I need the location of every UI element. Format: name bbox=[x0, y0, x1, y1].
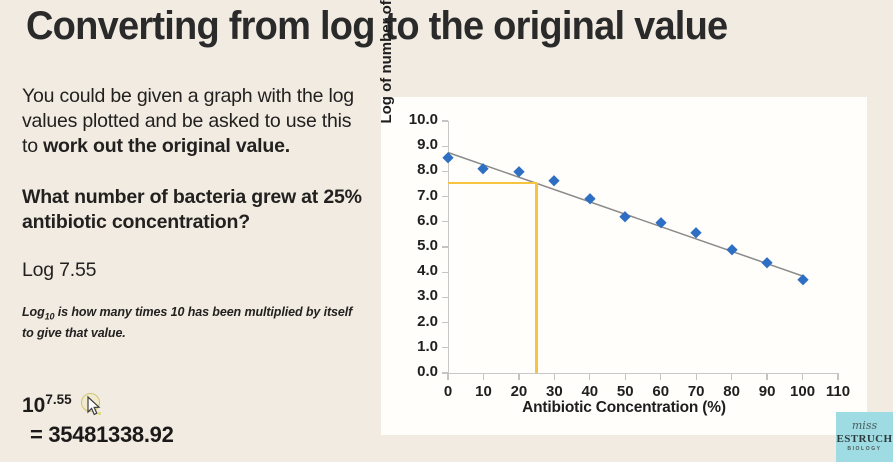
x-tick-label: 30 bbox=[534, 383, 574, 400]
x-tick bbox=[766, 374, 767, 380]
log-value-text: Log 7.55 bbox=[22, 259, 362, 282]
x-tick bbox=[731, 374, 732, 380]
x-tick bbox=[483, 374, 484, 380]
intro-paragraph: You could be given a graph with the log … bbox=[22, 84, 362, 159]
y-tick-label-text: 10.0 bbox=[409, 111, 438, 128]
question-text: What number of bacteria grew at 25% anti… bbox=[22, 185, 362, 235]
x-tick bbox=[554, 374, 555, 380]
page-title: Converting from log to the original valu… bbox=[26, 4, 727, 49]
x-tick bbox=[625, 374, 626, 380]
y-tick-label-text: 7.0 bbox=[417, 187, 438, 204]
y-tick-label-text: 5.0 bbox=[417, 237, 438, 254]
y-tick-label-text: 4.0 bbox=[417, 262, 438, 279]
x-tick-label: 0 bbox=[428, 383, 468, 400]
intro-paragraph-bold: work out the original value. bbox=[43, 135, 290, 157]
log-definition-note: Log10 is how many times 10 has been mult… bbox=[22, 304, 362, 341]
x-tick-label: 110 bbox=[818, 383, 858, 400]
y-tick-label-text: 8.0 bbox=[417, 161, 438, 178]
power-exponent: 7.55 bbox=[45, 392, 71, 407]
y-axis-title: Log of number of bacteria bbox=[378, 0, 395, 131]
slide-canvas: Converting from log to the original valu… bbox=[0, 0, 893, 462]
y-tick-label-text: 0.0 bbox=[417, 363, 438, 380]
plot-area bbox=[448, 121, 838, 373]
guide-line-vertical bbox=[535, 183, 537, 373]
answer-text: = 35481338.92 bbox=[30, 422, 174, 448]
x-tick-label: 80 bbox=[712, 383, 752, 400]
power-expression: 107.55 bbox=[22, 392, 72, 418]
left-text-column: You could be given a graph with the log … bbox=[22, 84, 362, 341]
x-tick-label: 20 bbox=[499, 383, 539, 400]
note-rest: is how many times 10 has been multiplied… bbox=[22, 305, 352, 340]
x-tick bbox=[589, 374, 590, 380]
trend-line bbox=[448, 121, 838, 373]
y-tick-label-text: 3.0 bbox=[417, 287, 438, 304]
note-subscript: 10 bbox=[45, 312, 55, 322]
y-tick-label-text: 6.0 bbox=[417, 212, 438, 229]
x-tick bbox=[447, 374, 448, 380]
logo-script-text: miss bbox=[836, 419, 893, 432]
logo-subtitle-text: BIOLOGY bbox=[836, 446, 893, 452]
y-tick-label-text: 9.0 bbox=[417, 136, 438, 153]
y-tick-label-text: 2.0 bbox=[417, 313, 438, 330]
x-tick bbox=[837, 374, 838, 380]
x-axis-line bbox=[448, 373, 839, 374]
x-tick bbox=[696, 374, 697, 380]
x-tick bbox=[518, 374, 519, 380]
x-tick-label: 10 bbox=[463, 383, 503, 400]
x-tick-label: 70 bbox=[676, 383, 716, 400]
logo-name-text: ESTRUCH bbox=[836, 433, 893, 445]
x-tick-label: 40 bbox=[570, 383, 610, 400]
x-tick bbox=[802, 374, 803, 380]
x-tick-label: 60 bbox=[641, 383, 681, 400]
x-tick-label: 100 bbox=[783, 383, 823, 400]
x-tick-label: 50 bbox=[605, 383, 645, 400]
x-axis-title: Antibiotic Concentration (%) bbox=[381, 399, 867, 417]
guide-line-horizontal bbox=[448, 182, 537, 184]
y-tick-label-text: 1.0 bbox=[417, 338, 438, 355]
x-tick-label: 90 bbox=[747, 383, 787, 400]
brand-logo: miss ESTRUCH BIOLOGY bbox=[836, 412, 893, 462]
power-base: 10 bbox=[22, 394, 45, 417]
note-prefix: Log bbox=[22, 305, 45, 319]
x-tick bbox=[660, 374, 661, 380]
mouse-pointer-click-icon bbox=[80, 393, 106, 419]
chart-panel: Log of number of bacteria Antibiotic Con… bbox=[381, 97, 867, 435]
